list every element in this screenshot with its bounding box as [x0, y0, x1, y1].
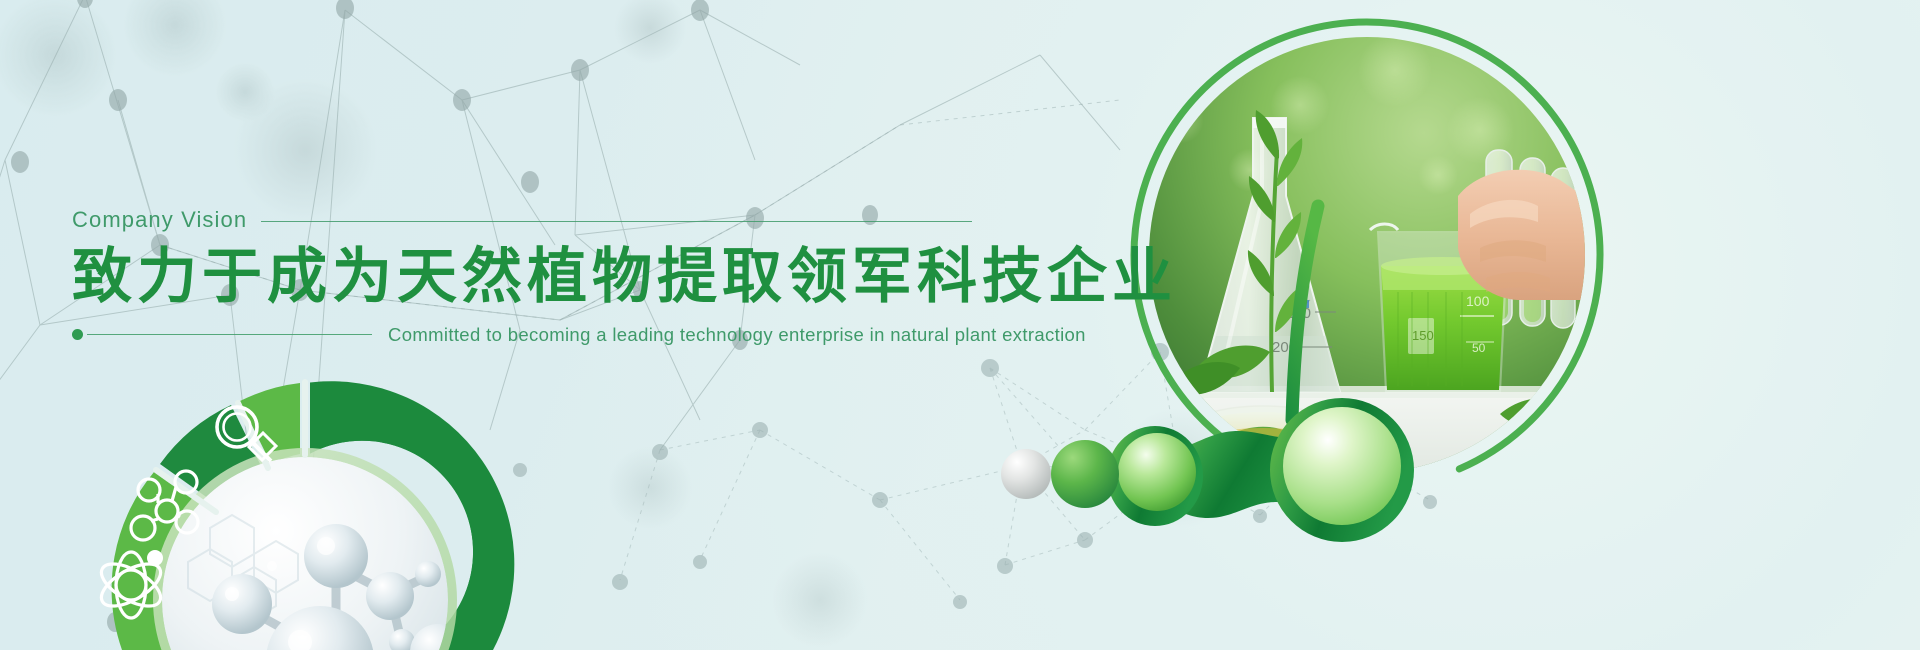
page-title: 致力于成为天然植物提取领军科技企业 — [72, 245, 972, 310]
eyebrow-rule — [261, 221, 972, 222]
molecule-stem — [1292, 206, 1318, 420]
medium-green-sphere — [1118, 433, 1196, 511]
subtitle-row: Committed to becoming a leading technolo… — [72, 324, 972, 346]
subtitle-bullet-icon — [72, 329, 83, 340]
page-subtitle: Committed to becoming a leading technolo… — [388, 324, 1086, 346]
small-green-sphere — [1051, 440, 1119, 508]
eyebrow-row: Company Vision — [72, 205, 972, 235]
subtitle-rule — [87, 334, 372, 335]
eyebrow-label: Company Vision — [72, 207, 247, 233]
vision-text-block: Company Vision 致力于成为天然植物提取领军科技企业 Committ… — [72, 205, 972, 346]
large-green-sphere — [1283, 407, 1401, 525]
grey-sphere — [1001, 449, 1051, 499]
company-vision-banner: 100 200 — [0, 0, 1920, 650]
